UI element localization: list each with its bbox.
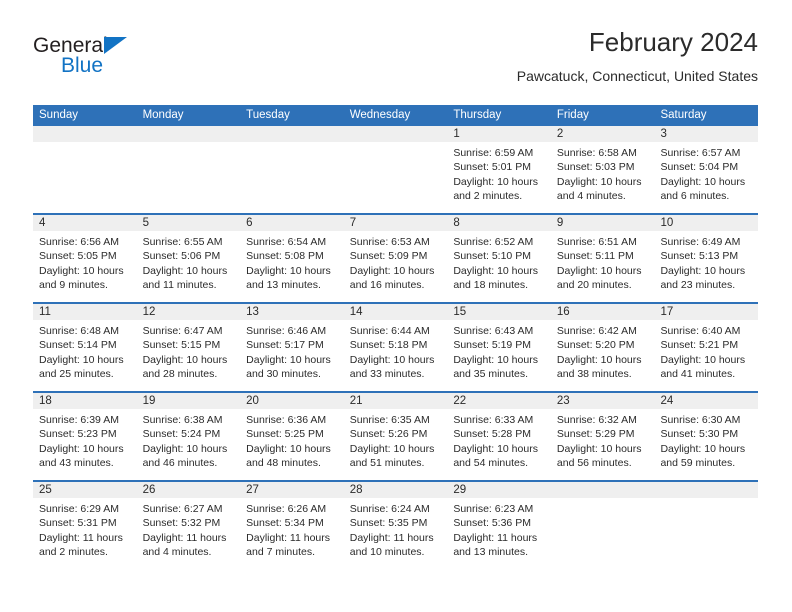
weekday-header-wednesday: Wednesday (344, 105, 448, 126)
calendar-day-cell[interactable]: 22Sunrise: 6:33 AMSunset: 5:28 PMDayligh… (447, 393, 551, 480)
sunrise-line: Sunrise: 6:24 AM (350, 502, 442, 516)
day-details: Sunrise: 6:54 AMSunset: 5:08 PMDaylight:… (240, 231, 344, 293)
daylight-line-2: and 56 minutes. (557, 456, 649, 470)
calendar-day-cell[interactable] (344, 126, 448, 213)
sunrise-line: Sunrise: 6:30 AM (660, 413, 752, 427)
day-number: 12 (137, 304, 241, 320)
sunrise-line: Sunrise: 6:51 AM (557, 235, 649, 249)
calendar-day-cell[interactable]: 26Sunrise: 6:27 AMSunset: 5:32 PMDayligh… (137, 482, 241, 569)
day-number: 27 (240, 482, 344, 498)
day-details (240, 142, 344, 146)
day-number: 5 (137, 215, 241, 231)
day-details: Sunrise: 6:24 AMSunset: 5:35 PMDaylight:… (344, 498, 448, 560)
daylight-line-2: and 35 minutes. (453, 367, 545, 381)
daylight-line-1: Daylight: 10 hours (350, 353, 442, 367)
sunset-line: Sunset: 5:23 PM (39, 427, 131, 441)
calendar-day-cell[interactable]: 28Sunrise: 6:24 AMSunset: 5:35 PMDayligh… (344, 482, 448, 569)
day-details: Sunrise: 6:23 AMSunset: 5:36 PMDaylight:… (447, 498, 551, 560)
daylight-line-2: and 23 minutes. (660, 278, 752, 292)
sunrise-line: Sunrise: 6:38 AM (143, 413, 235, 427)
logo-text-blue: Blue (61, 54, 103, 77)
sunset-line: Sunset: 5:15 PM (143, 338, 235, 352)
sunset-line: Sunset: 5:36 PM (453, 516, 545, 530)
daylight-line-1: Daylight: 11 hours (350, 531, 442, 545)
day-number: 28 (344, 482, 448, 498)
daylight-line-2: and 16 minutes. (350, 278, 442, 292)
daylight-line-1: Daylight: 10 hours (660, 264, 752, 278)
weekday-header-monday: Monday (137, 105, 241, 126)
day-number: 23 (551, 393, 655, 409)
day-details: Sunrise: 6:43 AMSunset: 5:19 PMDaylight:… (447, 320, 551, 382)
calendar-day-cell[interactable] (551, 482, 655, 569)
day-number: 24 (654, 393, 758, 409)
sunrise-line: Sunrise: 6:54 AM (246, 235, 338, 249)
calendar-week-row: 4Sunrise: 6:56 AMSunset: 5:05 PMDaylight… (33, 213, 758, 302)
daylight-line-1: Daylight: 10 hours (557, 442, 649, 456)
sunrise-line: Sunrise: 6:35 AM (350, 413, 442, 427)
calendar-day-cell[interactable]: 21Sunrise: 6:35 AMSunset: 5:26 PMDayligh… (344, 393, 448, 480)
calendar-day-cell[interactable]: 9Sunrise: 6:51 AMSunset: 5:11 PMDaylight… (551, 215, 655, 302)
day-details: Sunrise: 6:57 AMSunset: 5:04 PMDaylight:… (654, 142, 758, 204)
sunset-line: Sunset: 5:20 PM (557, 338, 649, 352)
sunrise-line: Sunrise: 6:36 AM (246, 413, 338, 427)
calendar-day-cell[interactable]: 14Sunrise: 6:44 AMSunset: 5:18 PMDayligh… (344, 304, 448, 391)
sunrise-line: Sunrise: 6:29 AM (39, 502, 131, 516)
daylight-line-2: and 11 minutes. (143, 278, 235, 292)
day-details: Sunrise: 6:47 AMSunset: 5:15 PMDaylight:… (137, 320, 241, 382)
sunset-line: Sunset: 5:03 PM (557, 160, 649, 174)
calendar-day-cell[interactable] (137, 126, 241, 213)
sunset-line: Sunset: 5:29 PM (557, 427, 649, 441)
weekday-header-saturday: Saturday (654, 105, 758, 126)
calendar-day-cell[interactable] (654, 482, 758, 569)
daylight-line-2: and 2 minutes. (453, 189, 545, 203)
sunset-line: Sunset: 5:26 PM (350, 427, 442, 441)
daylight-line-1: Daylight: 10 hours (39, 442, 131, 456)
day-details: Sunrise: 6:27 AMSunset: 5:32 PMDaylight:… (137, 498, 241, 560)
day-details: Sunrise: 6:35 AMSunset: 5:26 PMDaylight:… (344, 409, 448, 471)
sunrise-line: Sunrise: 6:49 AM (660, 235, 752, 249)
calendar-day-cell[interactable]: 6Sunrise: 6:54 AMSunset: 5:08 PMDaylight… (240, 215, 344, 302)
day-details: Sunrise: 6:46 AMSunset: 5:17 PMDaylight:… (240, 320, 344, 382)
sunrise-line: Sunrise: 6:23 AM (453, 502, 545, 516)
calendar-day-cell[interactable]: 11Sunrise: 6:48 AMSunset: 5:14 PMDayligh… (33, 304, 137, 391)
sunset-line: Sunset: 5:31 PM (39, 516, 131, 530)
calendar-day-cell[interactable]: 10Sunrise: 6:49 AMSunset: 5:13 PMDayligh… (654, 215, 758, 302)
calendar-day-cell[interactable]: 7Sunrise: 6:53 AMSunset: 5:09 PMDaylight… (344, 215, 448, 302)
sunset-line: Sunset: 5:30 PM (660, 427, 752, 441)
day-number (654, 482, 758, 498)
sunset-line: Sunset: 5:25 PM (246, 427, 338, 441)
day-details: Sunrise: 6:32 AMSunset: 5:29 PMDaylight:… (551, 409, 655, 471)
daylight-line-1: Daylight: 10 hours (246, 264, 338, 278)
daylight-line-2: and 9 minutes. (39, 278, 131, 292)
day-number: 16 (551, 304, 655, 320)
day-number (344, 126, 448, 142)
calendar-day-cell[interactable]: 20Sunrise: 6:36 AMSunset: 5:25 PMDayligh… (240, 393, 344, 480)
general-blue-logo[interactable]: General Blue (33, 34, 213, 90)
sunrise-line: Sunrise: 6:46 AM (246, 324, 338, 338)
day-number (551, 482, 655, 498)
sunset-line: Sunset: 5:04 PM (660, 160, 752, 174)
daylight-line-2: and 13 minutes. (453, 545, 545, 559)
day-details: Sunrise: 6:26 AMSunset: 5:34 PMDaylight:… (240, 498, 344, 560)
day-number: 15 (447, 304, 551, 320)
daylight-line-2: and 10 minutes. (350, 545, 442, 559)
day-number: 10 (654, 215, 758, 231)
daylight-line-1: Daylight: 10 hours (557, 353, 649, 367)
daylight-line-1: Daylight: 10 hours (39, 353, 131, 367)
daylight-line-1: Daylight: 11 hours (143, 531, 235, 545)
day-number: 8 (447, 215, 551, 231)
weekday-header-tuesday: Tuesday (240, 105, 344, 126)
sunrise-line: Sunrise: 6:33 AM (453, 413, 545, 427)
day-details: Sunrise: 6:49 AMSunset: 5:13 PMDaylight:… (654, 231, 758, 293)
calendar-day-cell[interactable]: 8Sunrise: 6:52 AMSunset: 5:10 PMDaylight… (447, 215, 551, 302)
daylight-line-2: and 46 minutes. (143, 456, 235, 470)
day-number: 20 (240, 393, 344, 409)
sunset-line: Sunset: 5:05 PM (39, 249, 131, 263)
day-number: 29 (447, 482, 551, 498)
daylight-line-1: Daylight: 10 hours (453, 442, 545, 456)
calendar-day-cell[interactable]: 15Sunrise: 6:43 AMSunset: 5:19 PMDayligh… (447, 304, 551, 391)
sunset-line: Sunset: 5:35 PM (350, 516, 442, 530)
calendar-day-cell[interactable]: 29Sunrise: 6:23 AMSunset: 5:36 PMDayligh… (447, 482, 551, 569)
daylight-line-1: Daylight: 10 hours (453, 353, 545, 367)
sunset-line: Sunset: 5:14 PM (39, 338, 131, 352)
day-number: 1 (447, 126, 551, 142)
page-header: General Blue February 2024 Pawcatuck, Co… (33, 26, 758, 98)
calendar-week-row: 25Sunrise: 6:29 AMSunset: 5:31 PMDayligh… (33, 480, 758, 569)
sunrise-line: Sunrise: 6:44 AM (350, 324, 442, 338)
day-number: 13 (240, 304, 344, 320)
daylight-line-1: Daylight: 10 hours (143, 442, 235, 456)
sunrise-line: Sunrise: 6:26 AM (246, 502, 338, 516)
daylight-line-2: and 25 minutes. (39, 367, 131, 381)
daylight-line-1: Daylight: 10 hours (143, 353, 235, 367)
day-details (551, 498, 655, 502)
day-number: 9 (551, 215, 655, 231)
day-details: Sunrise: 6:38 AMSunset: 5:24 PMDaylight:… (137, 409, 241, 471)
sunset-line: Sunset: 5:19 PM (453, 338, 545, 352)
calendar-day-cell[interactable]: 23Sunrise: 6:32 AMSunset: 5:29 PMDayligh… (551, 393, 655, 480)
daylight-line-1: Daylight: 10 hours (39, 264, 131, 278)
calendar-grid: Sunday Monday Tuesday Wednesday Thursday… (33, 105, 758, 569)
day-number: 4 (33, 215, 137, 231)
calendar-day-cell[interactable]: 12Sunrise: 6:47 AMSunset: 5:15 PMDayligh… (137, 304, 241, 391)
daylight-line-1: Daylight: 10 hours (453, 264, 545, 278)
daylight-line-1: Daylight: 10 hours (350, 264, 442, 278)
calendar-day-cell[interactable] (33, 126, 137, 213)
day-details (137, 142, 241, 146)
day-number (33, 126, 137, 142)
day-details: Sunrise: 6:56 AMSunset: 5:05 PMDaylight:… (33, 231, 137, 293)
calendar-week-row: 18Sunrise: 6:39 AMSunset: 5:23 PMDayligh… (33, 391, 758, 480)
title-block: February 2024 Pawcatuck, Connecticut, Un… (517, 26, 758, 86)
calendar-day-cell[interactable] (240, 126, 344, 213)
sunset-line: Sunset: 5:01 PM (453, 160, 545, 174)
daylight-line-2: and 6 minutes. (660, 189, 752, 203)
day-number: 21 (344, 393, 448, 409)
day-number: 14 (344, 304, 448, 320)
day-details: Sunrise: 6:36 AMSunset: 5:25 PMDaylight:… (240, 409, 344, 471)
day-details: Sunrise: 6:33 AMSunset: 5:28 PMDaylight:… (447, 409, 551, 471)
daylight-line-2: and 30 minutes. (246, 367, 338, 381)
sunset-line: Sunset: 5:08 PM (246, 249, 338, 263)
sunrise-line: Sunrise: 6:27 AM (143, 502, 235, 516)
sunset-line: Sunset: 5:06 PM (143, 249, 235, 263)
daylight-line-1: Daylight: 11 hours (453, 531, 545, 545)
daylight-line-2: and 4 minutes. (143, 545, 235, 559)
daylight-line-1: Daylight: 10 hours (453, 175, 545, 189)
calendar-page: General Blue February 2024 Pawcatuck, Co… (0, 0, 792, 612)
daylight-line-1: Daylight: 10 hours (350, 442, 442, 456)
day-details (654, 498, 758, 502)
daylight-line-2: and 4 minutes. (557, 189, 649, 203)
calendar-day-cell[interactable]: 17Sunrise: 6:40 AMSunset: 5:21 PMDayligh… (654, 304, 758, 391)
day-number: 17 (654, 304, 758, 320)
daylight-line-1: Daylight: 10 hours (246, 442, 338, 456)
calendar-day-cell[interactable]: 5Sunrise: 6:55 AMSunset: 5:06 PMDaylight… (137, 215, 241, 302)
daylight-line-2: and 43 minutes. (39, 456, 131, 470)
day-number: 2 (551, 126, 655, 142)
day-details: Sunrise: 6:52 AMSunset: 5:10 PMDaylight:… (447, 231, 551, 293)
day-details: Sunrise: 6:39 AMSunset: 5:23 PMDaylight:… (33, 409, 137, 471)
day-details: Sunrise: 6:59 AMSunset: 5:01 PMDaylight:… (447, 142, 551, 204)
sunset-line: Sunset: 5:28 PM (453, 427, 545, 441)
daylight-line-2: and 13 minutes. (246, 278, 338, 292)
sunset-line: Sunset: 5:34 PM (246, 516, 338, 530)
sunset-line: Sunset: 5:13 PM (660, 249, 752, 263)
daylight-line-2: and 28 minutes. (143, 367, 235, 381)
calendar-day-cell[interactable]: 4Sunrise: 6:56 AMSunset: 5:05 PMDaylight… (33, 215, 137, 302)
day-details: Sunrise: 6:44 AMSunset: 5:18 PMDaylight:… (344, 320, 448, 382)
weekday-header-row: Sunday Monday Tuesday Wednesday Thursday… (33, 105, 758, 126)
day-details: Sunrise: 6:29 AMSunset: 5:31 PMDaylight:… (33, 498, 137, 560)
day-number: 3 (654, 126, 758, 142)
location-subtitle: Pawcatuck, Connecticut, United States (517, 66, 758, 86)
day-number: 7 (344, 215, 448, 231)
day-details: Sunrise: 6:42 AMSunset: 5:20 PMDaylight:… (551, 320, 655, 382)
day-number (137, 126, 241, 142)
day-details (33, 142, 137, 146)
day-number: 26 (137, 482, 241, 498)
sunset-line: Sunset: 5:32 PM (143, 516, 235, 530)
calendar-day-cell[interactable]: 24Sunrise: 6:30 AMSunset: 5:30 PMDayligh… (654, 393, 758, 480)
day-details (344, 142, 448, 146)
sunset-line: Sunset: 5:18 PM (350, 338, 442, 352)
daylight-line-2: and 48 minutes. (246, 456, 338, 470)
sunrise-line: Sunrise: 6:55 AM (143, 235, 235, 249)
sunrise-line: Sunrise: 6:39 AM (39, 413, 131, 427)
daylight-line-1: Daylight: 10 hours (557, 264, 649, 278)
calendar-day-cell[interactable]: 25Sunrise: 6:29 AMSunset: 5:31 PMDayligh… (33, 482, 137, 569)
daylight-line-2: and 51 minutes. (350, 456, 442, 470)
daylight-line-2: and 38 minutes. (557, 367, 649, 381)
sunset-line: Sunset: 5:24 PM (143, 427, 235, 441)
calendar-week-row: 1Sunrise: 6:59 AMSunset: 5:01 PMDaylight… (33, 126, 758, 213)
daylight-line-1: Daylight: 10 hours (246, 353, 338, 367)
sunset-line: Sunset: 5:11 PM (557, 249, 649, 263)
day-details: Sunrise: 6:30 AMSunset: 5:30 PMDaylight:… (654, 409, 758, 471)
sunrise-line: Sunrise: 6:59 AM (453, 146, 545, 160)
daylight-line-2: and 18 minutes. (453, 278, 545, 292)
sunset-line: Sunset: 5:10 PM (453, 249, 545, 263)
sunrise-line: Sunrise: 6:56 AM (39, 235, 131, 249)
weekday-header-thursday: Thursday (447, 105, 551, 126)
daylight-line-2: and 2 minutes. (39, 545, 131, 559)
day-details: Sunrise: 6:48 AMSunset: 5:14 PMDaylight:… (33, 320, 137, 382)
day-number: 19 (137, 393, 241, 409)
daylight-line-1: Daylight: 11 hours (39, 531, 131, 545)
day-number (240, 126, 344, 142)
daylight-line-2: and 20 minutes. (557, 278, 649, 292)
sunrise-line: Sunrise: 6:52 AM (453, 235, 545, 249)
day-number: 25 (33, 482, 137, 498)
daylight-line-1: Daylight: 10 hours (143, 264, 235, 278)
daylight-line-1: Daylight: 10 hours (557, 175, 649, 189)
sunset-line: Sunset: 5:17 PM (246, 338, 338, 352)
day-details: Sunrise: 6:55 AMSunset: 5:06 PMDaylight:… (137, 231, 241, 293)
day-number: 22 (447, 393, 551, 409)
sunrise-line: Sunrise: 6:43 AM (453, 324, 545, 338)
daylight-line-1: Daylight: 11 hours (246, 531, 338, 545)
day-details: Sunrise: 6:53 AMSunset: 5:09 PMDaylight:… (344, 231, 448, 293)
calendar-day-cell[interactable]: 19Sunrise: 6:38 AMSunset: 5:24 PMDayligh… (137, 393, 241, 480)
sunrise-line: Sunrise: 6:42 AM (557, 324, 649, 338)
daylight-line-1: Daylight: 10 hours (660, 353, 752, 367)
calendar-day-cell[interactable]: 2Sunrise: 6:58 AMSunset: 5:03 PMDaylight… (551, 126, 655, 213)
day-details: Sunrise: 6:40 AMSunset: 5:21 PMDaylight:… (654, 320, 758, 382)
sunset-line: Sunset: 5:09 PM (350, 249, 442, 263)
logo-triangle-icon (104, 37, 127, 54)
calendar-week-row: 11Sunrise: 6:48 AMSunset: 5:14 PMDayligh… (33, 302, 758, 391)
sunrise-line: Sunrise: 6:47 AM (143, 324, 235, 338)
calendar-day-cell[interactable]: 13Sunrise: 6:46 AMSunset: 5:17 PMDayligh… (240, 304, 344, 391)
sunrise-line: Sunrise: 6:53 AM (350, 235, 442, 249)
weekday-header-sunday: Sunday (33, 105, 137, 126)
sunrise-line: Sunrise: 6:57 AM (660, 146, 752, 160)
day-number: 6 (240, 215, 344, 231)
daylight-line-2: and 7 minutes. (246, 545, 338, 559)
calendar-day-cell[interactable]: 16Sunrise: 6:42 AMSunset: 5:20 PMDayligh… (551, 304, 655, 391)
sunset-line: Sunset: 5:21 PM (660, 338, 752, 352)
page-title: February 2024 (517, 26, 758, 58)
daylight-line-2: and 41 minutes. (660, 367, 752, 381)
calendar-day-cell[interactable]: 27Sunrise: 6:26 AMSunset: 5:34 PMDayligh… (240, 482, 344, 569)
daylight-line-2: and 33 minutes. (350, 367, 442, 381)
daylight-line-1: Daylight: 10 hours (660, 175, 752, 189)
day-number: 18 (33, 393, 137, 409)
sunrise-line: Sunrise: 6:32 AM (557, 413, 649, 427)
daylight-line-2: and 59 minutes. (660, 456, 752, 470)
sunrise-line: Sunrise: 6:58 AM (557, 146, 649, 160)
day-number: 11 (33, 304, 137, 320)
day-details: Sunrise: 6:58 AMSunset: 5:03 PMDaylight:… (551, 142, 655, 204)
sunrise-line: Sunrise: 6:40 AM (660, 324, 752, 338)
daylight-line-1: Daylight: 10 hours (660, 442, 752, 456)
calendar-day-cell[interactable]: 3Sunrise: 6:57 AMSunset: 5:04 PMDaylight… (654, 126, 758, 213)
calendar-day-cell[interactable]: 1Sunrise: 6:59 AMSunset: 5:01 PMDaylight… (447, 126, 551, 213)
weekday-header-friday: Friday (551, 105, 655, 126)
day-details: Sunrise: 6:51 AMSunset: 5:11 PMDaylight:… (551, 231, 655, 293)
daylight-line-2: and 54 minutes. (453, 456, 545, 470)
calendar-day-cell[interactable]: 18Sunrise: 6:39 AMSunset: 5:23 PMDayligh… (33, 393, 137, 480)
sunrise-line: Sunrise: 6:48 AM (39, 324, 131, 338)
